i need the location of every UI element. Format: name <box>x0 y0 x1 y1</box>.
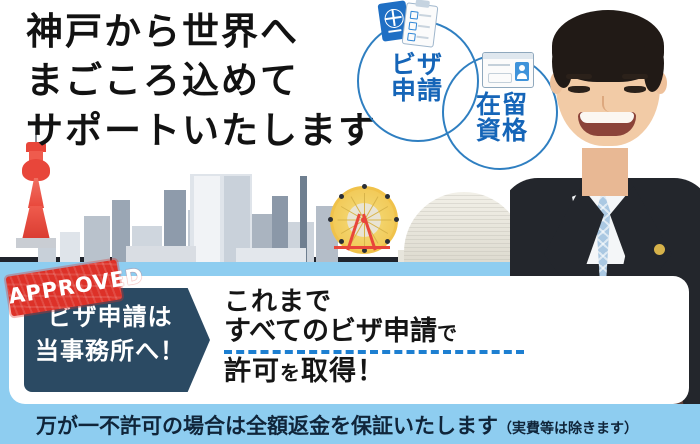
eyebrow-left <box>566 74 592 79</box>
building <box>84 216 110 262</box>
checkbox-icon <box>407 33 416 42</box>
headline-line-2: まごころ込めて <box>26 57 377 104</box>
promo-line-3-tail: 取得！ <box>301 356 385 387</box>
clipboard-icon <box>402 2 439 48</box>
clipboard-text-line <box>419 14 431 17</box>
id-card-field <box>488 73 512 83</box>
promo-line-2: すべてのビザ申請で <box>224 316 554 348</box>
globe-icon <box>383 8 404 29</box>
pier-structure <box>236 248 306 262</box>
wheel-cabin <box>339 194 344 199</box>
teeth <box>580 112 634 123</box>
clipboard-clip <box>415 0 430 8</box>
dashed-underline <box>224 350 524 354</box>
guarantee-note-text: （実費等は除きます） <box>498 421 638 437</box>
smiling-mouth <box>578 112 636 136</box>
promo-line-3: 許可を取得！ <box>224 357 554 387</box>
promo-line-3-particle: を <box>280 361 301 385</box>
promo-line-2-suffix: で <box>437 321 457 345</box>
tower-lower-body <box>22 206 50 240</box>
tower-upper-body <box>28 178 44 208</box>
headline-line-3: サポートいたします <box>26 107 377 154</box>
wheel-cabin <box>339 239 344 244</box>
clipboard-text-line <box>416 36 428 39</box>
lapel-badge-icon <box>654 244 665 255</box>
pier-structure <box>126 246 196 262</box>
arrow-text-line-2: 当事務所へ！ <box>30 334 190 368</box>
headline-line-1: 神戸から世界へ <box>26 8 377 55</box>
badge-label-visa-line2: 申請 <box>372 78 462 104</box>
tower-observatory <box>22 159 50 181</box>
eye-left <box>568 86 590 93</box>
wheel-cabin <box>394 217 399 222</box>
badge-label-visa: ビザ 申請 <box>372 52 462 105</box>
eyebrow-right <box>622 74 648 79</box>
badge-label-visa-line1: ビザ <box>372 52 462 78</box>
checkbox-icon <box>410 11 419 20</box>
guarantee-main-text: 万が一不許可の場合は全額返金を保証いたします <box>36 414 498 438</box>
tower-base <box>16 238 56 248</box>
id-card-line <box>488 64 510 66</box>
wheel-cabin <box>328 217 333 222</box>
visa-service-banner: 神戸から世界へ まごころ込めて サポートいたします ビザ 申請 在留 資格 <box>0 0 700 444</box>
promo-line-1: これまで <box>224 288 554 316</box>
promo-text: これまで すべてのビザ申請で 許可を取得！ <box>224 288 554 387</box>
checkbox-icon <box>408 22 417 31</box>
wheel-base-bar <box>334 246 390 249</box>
wheel-cabin <box>362 184 367 189</box>
nose <box>602 96 616 112</box>
arrow-callout-text: ビザ申請は 当事務所へ！ <box>30 300 190 368</box>
eye-right <box>624 86 646 93</box>
headline: 神戸から世界へ まごころ込めて サポートいたします <box>26 8 377 156</box>
building-tall <box>194 176 220 262</box>
guarantee-text: 万が一不許可の場合は全額返金を保証いたします（実費等は除きます） <box>36 410 638 440</box>
wheel-cabin <box>385 194 390 199</box>
clipboard-text-line <box>418 25 430 28</box>
wheel-cabin <box>385 239 390 244</box>
promo-line-3-main: 許可 <box>224 356 280 387</box>
neck <box>582 148 628 196</box>
promo-line-2-main: すべてのビザ申請 <box>224 316 437 347</box>
passport-line <box>388 29 401 33</box>
